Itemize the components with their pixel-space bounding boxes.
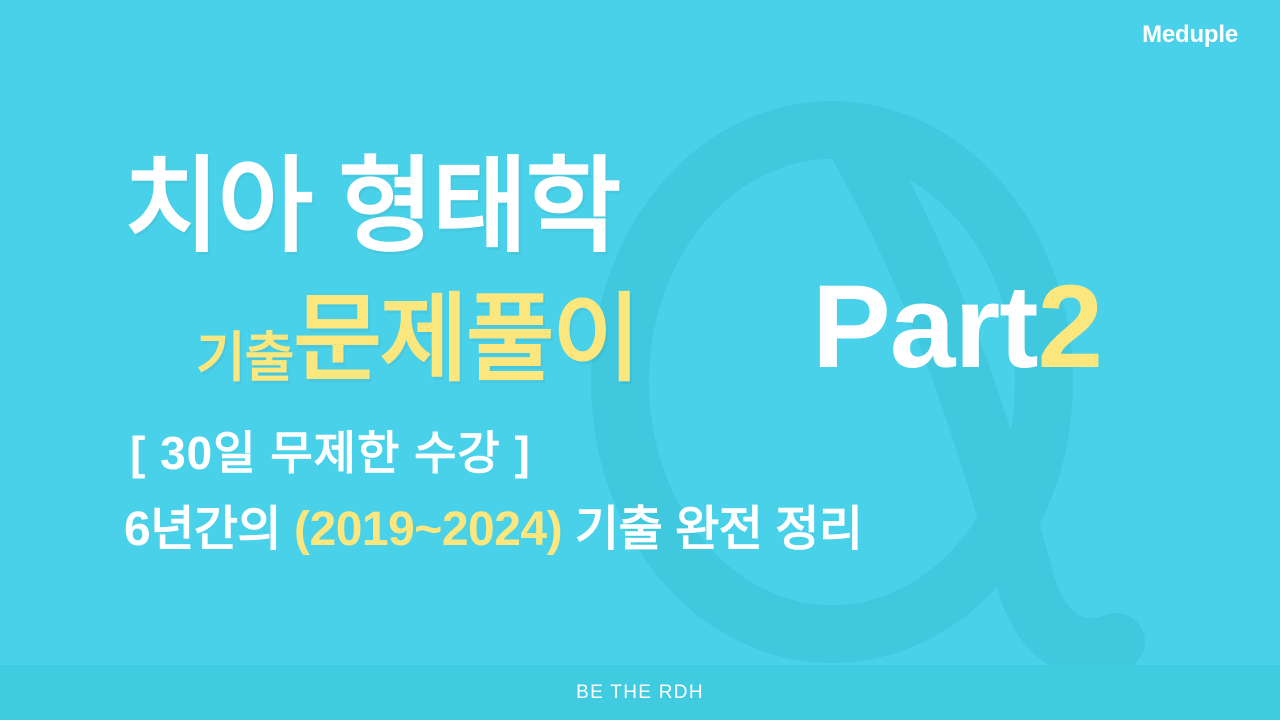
enrollment-period-note: [ 30일 무제한 수강 ] [130,430,531,476]
page-title: 치아 형태학 [124,155,619,259]
subtitle-small-text: 기출 [196,331,293,388]
part-number: 2 [1038,261,1103,393]
brand-logo: Meduple [1142,23,1238,47]
footer-band: BE THE RDH [0,665,1280,720]
coverage-note: 6년간의 (2019~2024) 기출 완전 정리 [124,506,863,554]
coverage-suffix: 기출 완전 정리 [562,503,862,556]
promo-thumbnail-canvas: Meduple 치아 형태학 기출 문제풀이 Part2 [ 30일 무제한 수… [0,0,1280,720]
part-label: Part [812,261,1038,393]
footer-tagline: BE THE RDH [576,683,704,702]
coverage-prefix: 6년간의 [124,503,294,556]
headline-block: 치아 형태학 기출 문제풀이 Part2 [ 30일 무제한 수강 ] 6년간의… [0,0,1280,665]
part-badge: Part2 [812,268,1102,386]
coverage-year-range: (2019~2024) [294,503,562,556]
subtitle-row: 기출 문제풀이 [196,292,639,388]
subtitle-large-text: 문제풀이 [293,292,638,388]
